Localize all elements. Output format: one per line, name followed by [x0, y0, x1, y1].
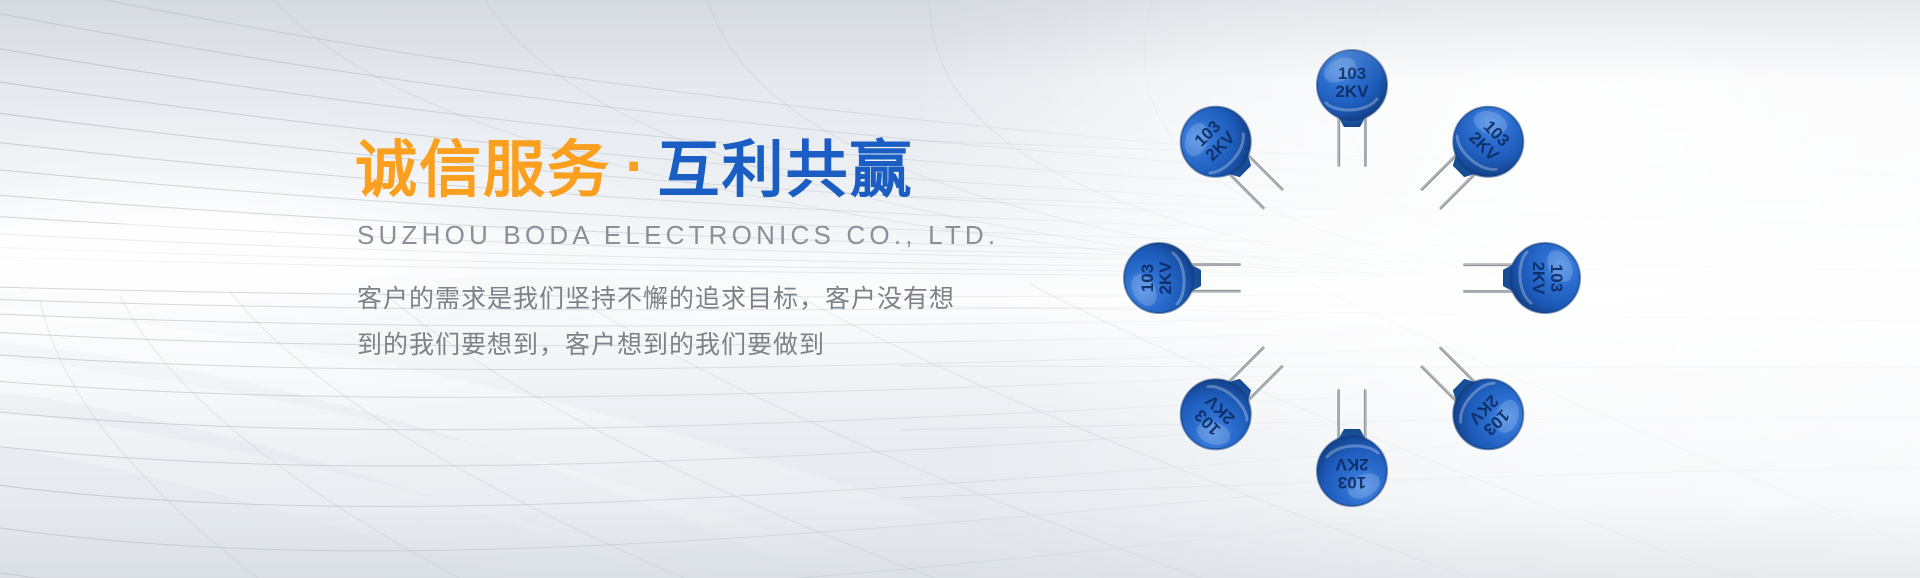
banner-text-block: 诚信服务 · 互利共赢 SUZHOU BODA ELECTRONICS CO.,… — [355, 140, 1115, 368]
capacitor-item — [1304, 45, 1400, 171]
banner-body-copy: 客户的需求是我们坚持不懈的追求目标，客户没有想 到的我们要想到，客户想到的我们要… — [357, 277, 997, 368]
company-name-subtitle: SUZHOU BODA ELECTRONICS CO., LTD. — [357, 220, 1115, 251]
capacitor-item — [1119, 230, 1245, 326]
body-line: 客户的需求是我们坚持不懈的追求目标，客户没有想 — [357, 277, 997, 323]
headline-separator-dot: · — [611, 136, 658, 198]
capacitor-item — [1459, 230, 1585, 326]
headline-segment-blue: 互利共赢 — [658, 140, 914, 202]
promo-banner: 103 2KV 诚信 — [0, 0, 1920, 578]
capacitor-item — [1304, 385, 1400, 511]
body-line: 到的我们要想到，客户想到的我们要做到 — [357, 323, 997, 369]
headline-segment-orange: 诚信服务 — [355, 140, 611, 202]
headline: 诚信服务 · 互利共赢 — [355, 140, 1115, 202]
